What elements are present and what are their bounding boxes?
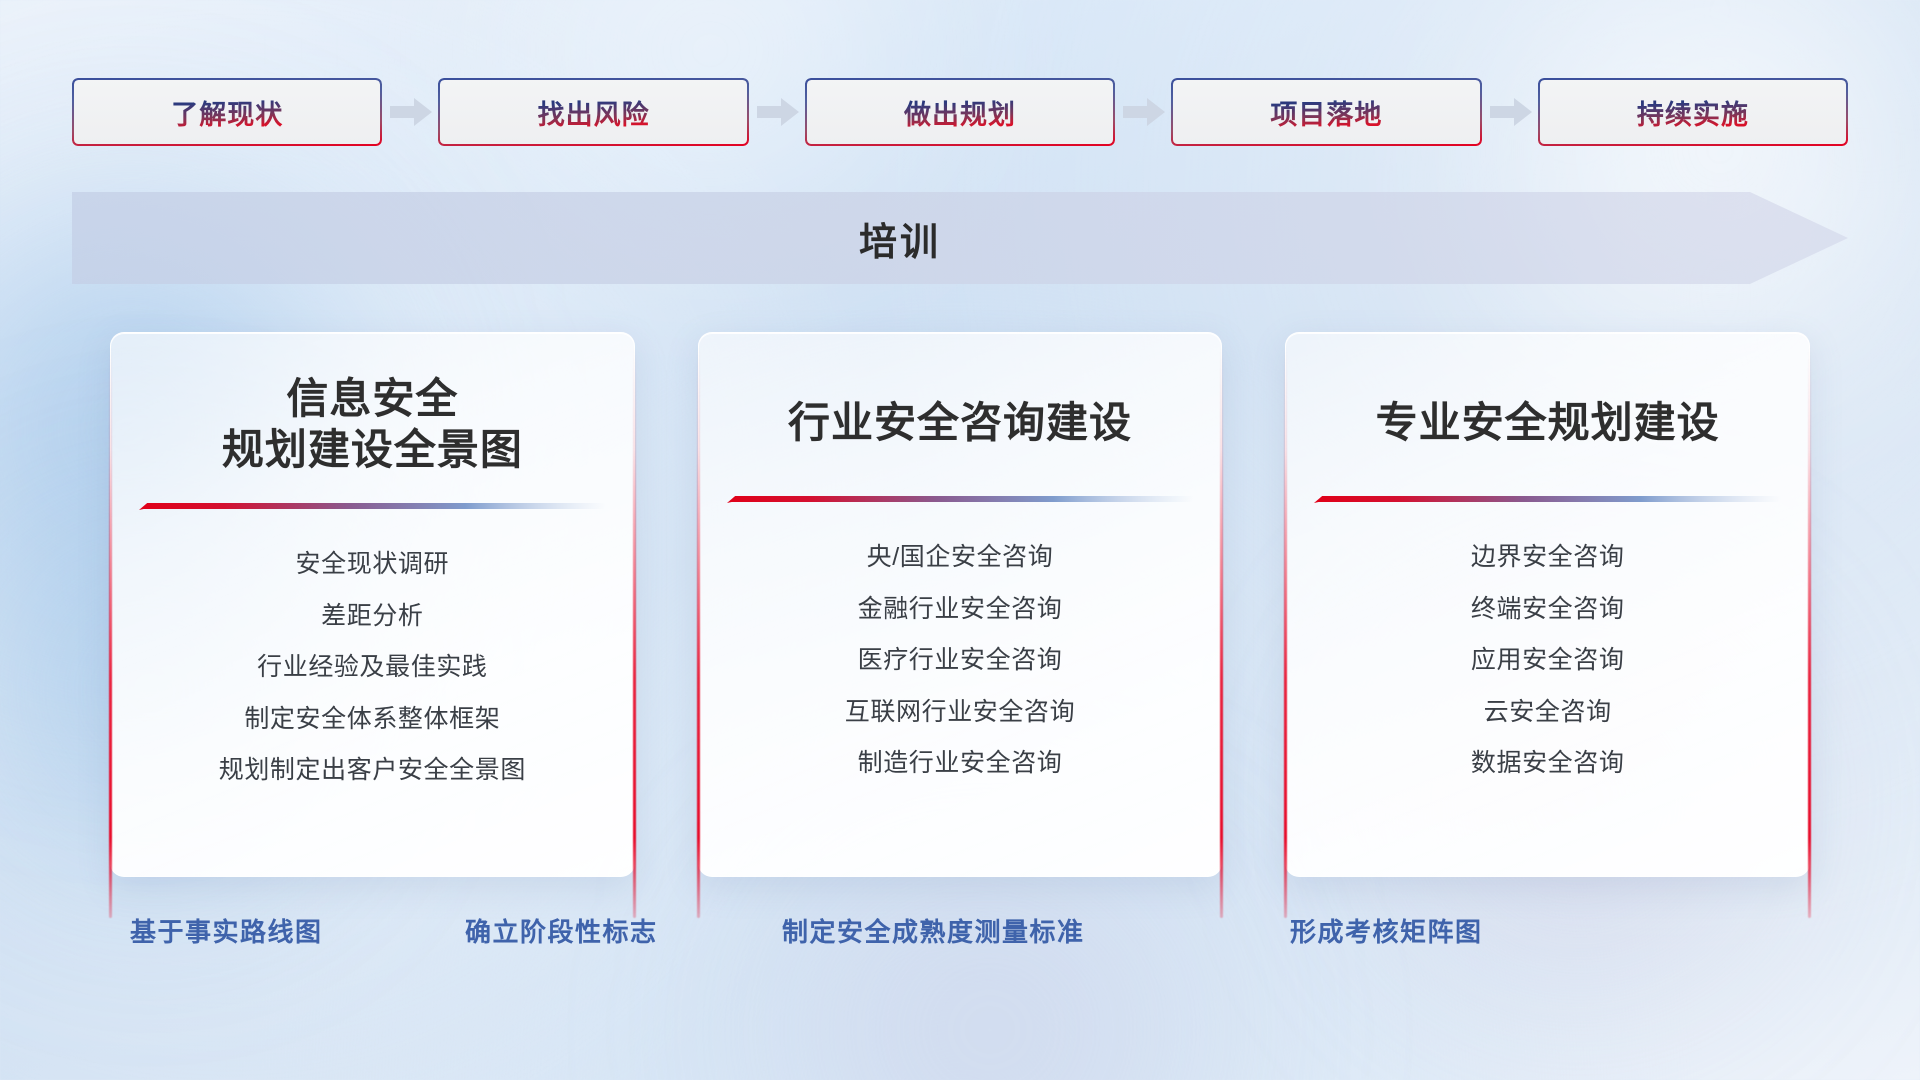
arrow-right-icon — [749, 78, 805, 146]
caption-row: 基于事实路线图 确立阶段性标志 制定安全成熟度测量标准 形成考核矩阵图 — [0, 912, 1920, 960]
card-title: 行业安全咨询建设 — [788, 397, 1132, 448]
caption-roadmap: 基于事实路线图 — [130, 912, 323, 949]
card-item-list: 央/国企安全咨询 金融行业安全咨询 医疗行业安全咨询 互联网行业安全咨询 制造行… — [699, 536, 1222, 785]
card-edge-rail-right — [633, 347, 636, 918]
list-item: 应用安全咨询 — [1471, 639, 1625, 682]
card-item-list: 安全现状调研 差距分析 行业经验及最佳实践 制定安全体系整体框架 规划制定出客户… — [111, 543, 634, 792]
card-edge-rail-right — [1808, 347, 1811, 918]
step-label: 了解现状 — [171, 93, 283, 132]
list-item: 差距分析 — [321, 595, 423, 638]
list-item: 制定安全体系整体框架 — [244, 698, 500, 741]
list-item: 数据安全咨询 — [1471, 742, 1625, 785]
list-item: 终端安全咨询 — [1471, 588, 1625, 631]
step-box-2[interactable]: 找出风险 — [438, 78, 748, 146]
caption-assessment-matrix: 形成考核矩阵图 — [1290, 912, 1483, 949]
card-item-list: 边界安全咨询 终端安全咨询 应用安全咨询 云安全咨询 数据安全咨询 — [1286, 536, 1809, 785]
training-label: 培训 — [72, 192, 1728, 284]
card-edge-rail-left — [1284, 347, 1287, 918]
training-band: 培训 — [72, 192, 1848, 284]
card-edge-rail-left — [697, 347, 700, 918]
arrow-right-icon — [382, 78, 438, 146]
step-label: 项目落地 — [1270, 93, 1382, 132]
list-item: 金融行业安全咨询 — [858, 588, 1063, 631]
arrow-right-icon — [1115, 78, 1171, 146]
card-edge-rail-left — [109, 347, 112, 918]
caption-maturity-standard: 制定安全成熟度测量标准 — [782, 912, 1085, 949]
card-information-security-blueprint[interactable]: 信息安全 规划建设全景图 安全现状调研 差距分析 行业经验及最佳实践 制定安全体… — [110, 332, 635, 877]
list-item: 医疗行业安全咨询 — [858, 639, 1063, 682]
list-item: 安全现状调研 — [296, 543, 450, 586]
process-step-flow: 了解现状 找出风险 做出规划 项目落地 持续实施 — [72, 78, 1848, 146]
list-item: 互联网行业安全咨询 — [845, 691, 1075, 734]
list-item: 规划制定出客户安全全景图 — [219, 749, 526, 792]
card-title: 专业安全规划建设 — [1376, 397, 1720, 448]
list-item: 边界安全咨询 — [1471, 536, 1625, 579]
card-edge-rail-right — [1220, 347, 1223, 918]
card-professional-security-planning[interactable]: 专业安全规划建设 边界安全咨询 终端安全咨询 应用安全咨询 云安全咨询 数据安全… — [1285, 332, 1810, 877]
caption-milestones: 确立阶段性标志 — [465, 912, 658, 949]
step-box-5[interactable]: 持续实施 — [1538, 78, 1848, 146]
step-box-1[interactable]: 了解现状 — [72, 78, 382, 146]
step-box-4[interactable]: 项目落地 — [1171, 78, 1481, 146]
card-industry-security-consulting[interactable]: 行业安全咨询建设 央/国企安全咨询 金融行业安全咨询 医疗行业安全咨询 互联网行… — [698, 332, 1223, 877]
card-divider — [139, 501, 606, 513]
step-label: 持续实施 — [1637, 93, 1749, 132]
arrow-right-icon — [1482, 78, 1538, 146]
step-box-3[interactable]: 做出规划 — [805, 78, 1115, 146]
card-divider — [1314, 494, 1781, 506]
list-item: 制造行业安全咨询 — [858, 742, 1063, 785]
card-title: 信息安全 规划建设全景图 — [222, 373, 523, 475]
list-item: 行业经验及最佳实践 — [257, 646, 487, 689]
list-item: 云安全咨询 — [1484, 691, 1612, 734]
card-divider — [727, 494, 1194, 506]
step-label: 做出规划 — [904, 93, 1016, 132]
step-label: 找出风险 — [538, 93, 650, 132]
list-item: 央/国企安全咨询 — [867, 536, 1054, 579]
card-group: 信息安全 规划建设全景图 安全现状调研 差距分析 行业经验及最佳实践 制定安全体… — [110, 332, 1810, 877]
